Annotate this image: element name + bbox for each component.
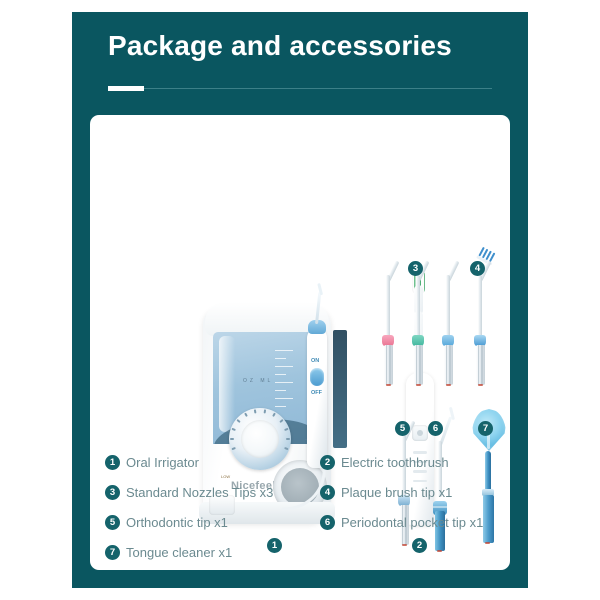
legend-item-2: 2 Electric toothbrush — [320, 455, 449, 470]
legend-label-1: Oral Irrigator — [126, 455, 199, 470]
handle-off-label: OFF — [311, 390, 322, 396]
legend-item-3: 3 Standard Nozzles Tips x3 — [105, 485, 273, 500]
legend-label-7: Tongue cleaner x1 — [126, 545, 232, 560]
product-badge-7: 7 — [478, 421, 493, 436]
legend-badge-6: 6 — [320, 515, 335, 530]
nozzle-shaft — [416, 275, 420, 337]
divider-thin-line — [108, 88, 492, 90]
divider-accent-bar — [108, 86, 144, 91]
nozzle-shaft — [478, 275, 482, 337]
irrigator-handle[interactable] — [307, 328, 327, 468]
legend-label-2: Electric toothbrush — [341, 455, 449, 470]
legend-item-6: 6 Periodontal pocket tip x1 — [320, 515, 483, 530]
handle-on-label: ON — [311, 358, 319, 364]
legend-badge-1: 1 — [105, 455, 120, 470]
nozzle-stem — [414, 345, 423, 385]
legend-badge-3: 3 — [105, 485, 120, 500]
legend-label-4: Plaque brush tip x1 — [341, 485, 452, 500]
legend-item-5: 5 Orthodontic tip x1 — [105, 515, 228, 530]
nozzle-shaft — [386, 275, 390, 337]
product-badge-4: 4 — [470, 261, 485, 276]
nozzle-shaft — [446, 275, 450, 337]
legend-item-4: 4 Plaque brush tip x1 — [320, 485, 452, 500]
legend-row: 1 Oral Irrigator 2 Electric toothbrush — [105, 455, 505, 485]
nozzle-stem — [444, 345, 453, 385]
legend-item-1: 1 Oral Irrigator — [105, 455, 199, 470]
page-title: Package and accessories — [108, 30, 452, 62]
irrigator-side-panel — [333, 330, 347, 448]
legend-badge-7: 7 — [105, 545, 120, 560]
tank-unit-label: OZ ML — [243, 378, 313, 384]
legend-list: 1 Oral Irrigator 2 Electric toothbrush 3… — [105, 455, 505, 575]
legend-badge-5: 5 — [105, 515, 120, 530]
product-package-infographic: Package and accessories OZ ML — [0, 0, 600, 600]
legend-badge-2: 2 — [320, 455, 335, 470]
handle-power-switch[interactable] — [310, 368, 324, 386]
product-badge-6: 6 — [428, 421, 443, 436]
legend-badge-4: 4 — [320, 485, 335, 500]
toothbrush-power-button[interactable] — [412, 425, 428, 441]
legend-label-5: Orthodontic tip x1 — [126, 515, 228, 530]
legend-label-6: Periodontal pocket tip x1 — [341, 515, 483, 530]
dial-knob[interactable] — [241, 420, 279, 458]
legend-row: 5 Orthodontic tip x1 6 Periodontal pocke… — [105, 515, 505, 545]
nozzle-stem — [476, 345, 485, 385]
title-divider — [108, 86, 492, 91]
product-badge-3: 3 — [408, 261, 423, 276]
nozzle-stem — [384, 345, 393, 385]
legend-row: 3 Standard Nozzles Tips x3 4 Plaque brus… — [105, 485, 505, 515]
product-badge-5: 5 — [395, 421, 410, 436]
legend-label-3: Standard Nozzles Tips x3 — [126, 485, 273, 500]
legend-row: 7 Tongue cleaner x1 — [105, 545, 505, 575]
legend-item-7: 7 Tongue cleaner x1 — [105, 545, 232, 560]
